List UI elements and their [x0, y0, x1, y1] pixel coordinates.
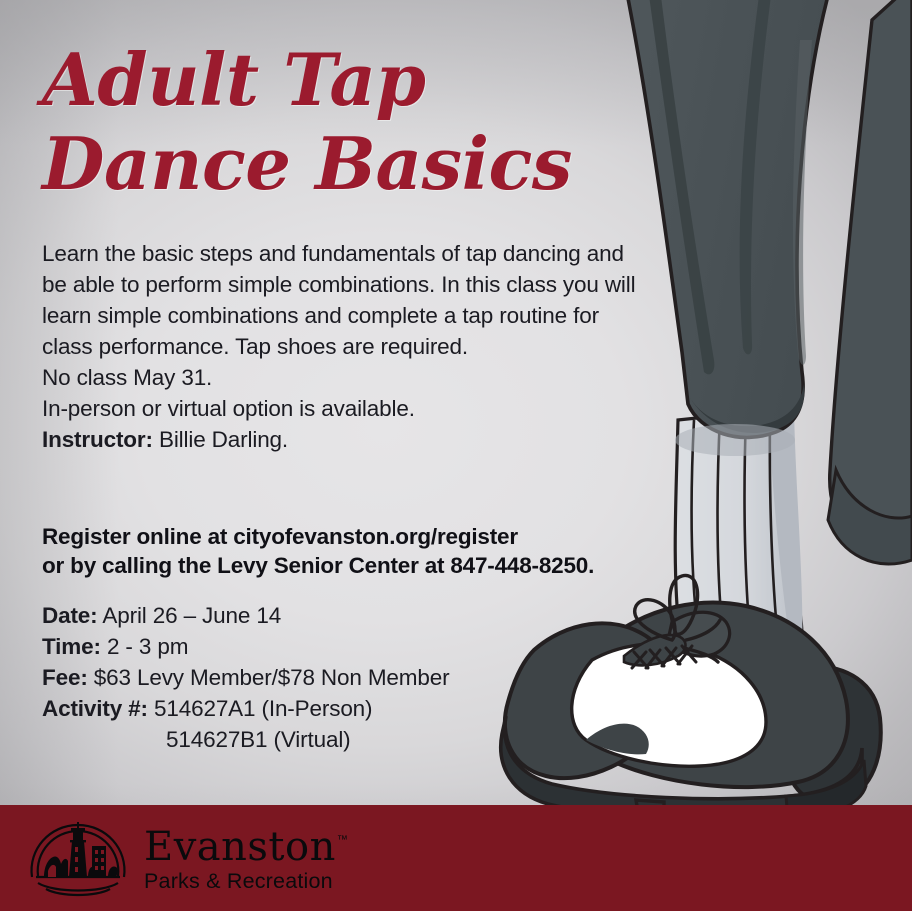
logo-wordmark: Evanston™ Parks & Recreation	[144, 826, 347, 893]
logo-name: Evanston	[144, 826, 336, 868]
logo-tagline: Parks & Recreation	[144, 869, 347, 893]
instructor-line: Instructor: Billie Darling.	[42, 424, 642, 455]
footer-bar: Evanston™ Parks & Recreation	[0, 805, 912, 911]
detail-fee: Fee: $63 Levy Member/$78 Non Member	[42, 662, 602, 693]
detail-date: Date: April 26 – June 14	[42, 600, 602, 631]
instructor-name: Billie Darling.	[159, 427, 288, 452]
registration-block: Register online at cityofevanston.org/re…	[42, 522, 682, 580]
trademark-icon: ™	[337, 834, 348, 846]
title-line-2: Dance Basics	[42, 122, 572, 206]
format-note: In-person or virtual option is available…	[42, 393, 642, 424]
time-value: 2 - 3 pm	[107, 634, 188, 659]
title-line-1: Adult Tap	[42, 38, 572, 122]
fee-label: Fee:	[42, 665, 88, 690]
activity-label: Activity #:	[42, 696, 148, 721]
description-block: Learn the basic steps and fundamentals o…	[42, 238, 642, 455]
date-label: Date:	[42, 603, 98, 628]
instructor-label: Instructor:	[42, 427, 153, 452]
date-value: April 26 – June 14	[102, 603, 281, 628]
fee-value: $63 Levy Member/$78 Non Member	[94, 665, 450, 690]
class-details-block: Date: April 26 – June 14 Time: 2 - 3 pm …	[42, 600, 602, 755]
time-label: Time:	[42, 634, 101, 659]
activity-value-virtual: 514627B1 (Virtual)	[42, 724, 602, 755]
description-paragraph: Learn the basic steps and fundamentals o…	[42, 238, 642, 362]
no-class-note: No class May 31.	[42, 362, 642, 393]
register-phone-line[interactable]: or by calling the Levy Senior Center at …	[42, 551, 682, 580]
flyer-canvas: Adult Tap Dance Basics Learn the basic s…	[0, 0, 912, 911]
evanston-logo: Evanston™ Parks & Recreation	[26, 819, 347, 897]
register-online-line[interactable]: Register online at cityofevanston.org/re…	[42, 522, 682, 551]
activity-value-in-person: 514627A1 (In-Person)	[154, 696, 372, 721]
detail-activity: Activity #: 514627A1 (In-Person)	[42, 693, 602, 724]
lighthouse-emblem-icon	[26, 819, 130, 897]
page-title: Adult Tap Dance Basics	[42, 38, 572, 206]
detail-time: Time: 2 - 3 pm	[42, 631, 602, 662]
